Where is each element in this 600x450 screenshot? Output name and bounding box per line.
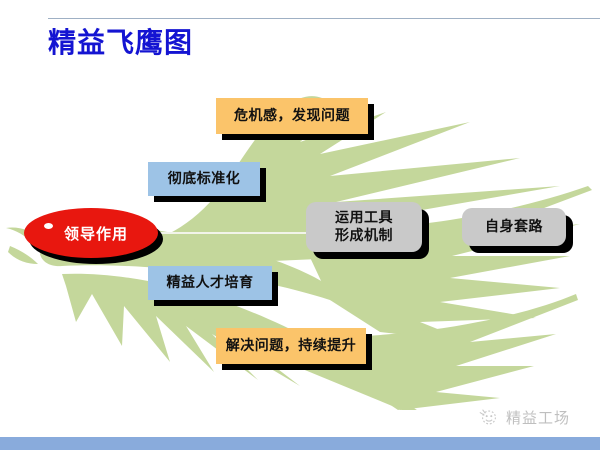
node-tools-mechanism[interactable]: 运用工具 形成机制 — [306, 202, 422, 252]
watermark-text: 精益工场 — [506, 407, 570, 428]
node-standardization[interactable]: 彻底标准化 — [148, 162, 260, 196]
slide-canvas: 精益飞鹰图 危机感，发现问 — [0, 0, 600, 450]
node-lean-talent-label: 精益人才培育 — [167, 274, 254, 292]
node-own-routine[interactable]: 自身套路 — [462, 208, 566, 246]
circular-logo-icon — [478, 406, 500, 428]
node-leadership-label: 领导作用 — [64, 223, 128, 244]
watermark: 精益工场 — [478, 406, 570, 428]
node-leadership[interactable]: 领导作用 — [24, 208, 158, 258]
bottom-accent-bar — [0, 437, 600, 450]
leader-connector-line — [150, 232, 320, 234]
node-crisis-awareness[interactable]: 危机感，发现问题 — [216, 98, 368, 134]
header-divider — [48, 18, 600, 19]
node-crisis-label: 危机感，发现问题 — [234, 107, 350, 125]
node-standardization-label: 彻底标准化 — [168, 170, 241, 188]
node-solve-improve-label: 解决问题，持续提升 — [226, 337, 357, 355]
eagle-eye-icon — [44, 223, 53, 229]
node-tools-label-line2: 形成机制 — [335, 227, 393, 245]
node-solve-improve[interactable]: 解决问题，持续提升 — [216, 328, 366, 364]
node-lean-talent-development[interactable]: 精益人才培育 — [148, 266, 272, 300]
node-own-routine-label: 自身套路 — [485, 218, 543, 236]
node-tools-label-line1: 运用工具 — [335, 209, 393, 227]
